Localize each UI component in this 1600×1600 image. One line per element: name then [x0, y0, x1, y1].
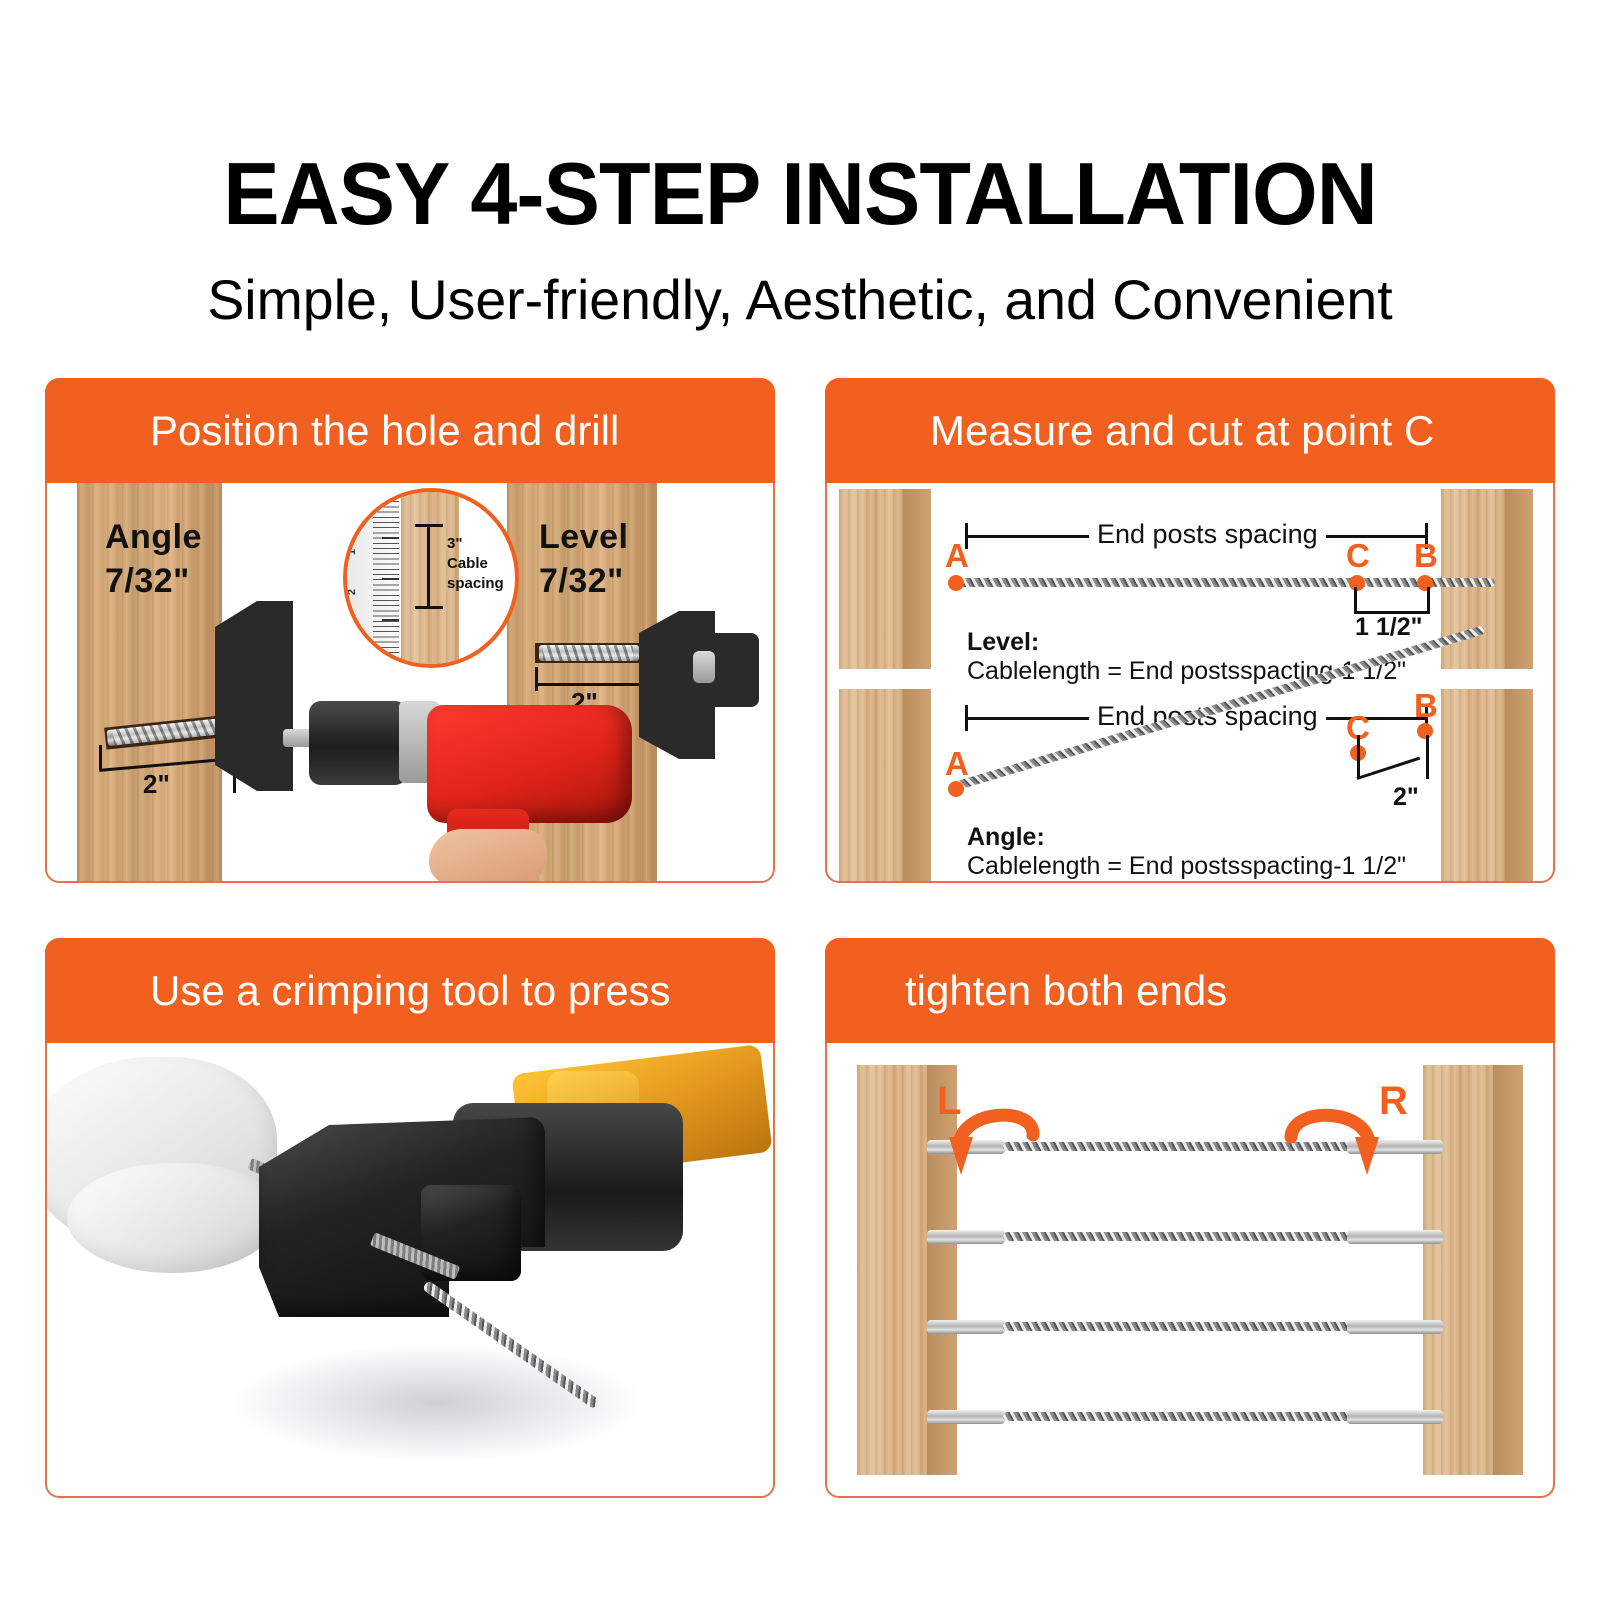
level-point-a-label: A	[945, 539, 969, 572]
angle-point-b-label: B	[1414, 689, 1438, 722]
angle-formula-body: Cablelength = End postsspacting-1 1/2"	[967, 852, 1406, 881]
infographic-page: EASY 4-STEP INSTALLATION Simple, User-fr…	[0, 0, 1600, 1600]
level-formula: Level: Cablelength = End postsspacting-1…	[967, 628, 1406, 686]
ruler-tick-4: 4	[346, 661, 358, 667]
ruler-tick-0: 0	[346, 509, 358, 515]
step-4-body: L R	[825, 1043, 1555, 1498]
spacing-cap-bottom	[415, 606, 443, 609]
hand-graphic	[429, 829, 547, 883]
cable-3-terminal-right	[1347, 1320, 1443, 1334]
angle-diagram-post-left	[839, 689, 931, 883]
right-rotation-arrow-icon	[1279, 1089, 1389, 1199]
drill-chuck	[309, 701, 407, 785]
page-title: EASY 4-STEP INSTALLATION	[32, 146, 1568, 242]
cable-2-terminal-left	[927, 1230, 1005, 1244]
step-4-panel: tighten both ends	[825, 938, 1555, 1498]
level-cable	[955, 578, 1495, 587]
gloved-hand-lower	[67, 1163, 277, 1273]
step-1-header: Position the hole and drill	[45, 378, 775, 483]
cable-3-terminal-left	[927, 1320, 1005, 1334]
angle-point-a-dot	[948, 781, 964, 797]
step-2-header-label: Measure and cut at point C	[825, 407, 1434, 455]
angle-formula: Angle: Cablelength = End postsspacting-1…	[967, 823, 1406, 881]
step-3-header: Use a crimping tool to press	[45, 938, 775, 1043]
angle-formula-title: Angle:	[967, 823, 1406, 852]
cable-spacing-value: 3"	[447, 534, 462, 553]
cable-2-terminal-right	[1347, 1230, 1443, 1244]
step-4-header-label: tighten both ends	[825, 967, 1227, 1015]
left-turn-label: L	[937, 1081, 961, 1121]
level-chuck-block	[639, 611, 715, 759]
cable-spacing-line2: spacing	[447, 574, 504, 593]
level-bit-flutes	[543, 645, 633, 661]
cable-4	[1003, 1412, 1353, 1421]
magnifier-circle: 0 1 2 3 4 3" Cable spacing	[343, 488, 519, 668]
ruler-tick-2: 2	[346, 589, 358, 595]
step-1-panel: Position the hole and drill Angle 7/32" …	[45, 378, 775, 883]
step-2-header: Measure and cut at point C	[825, 378, 1555, 483]
step-3-body	[45, 1043, 775, 1498]
spacing-bar	[427, 524, 430, 608]
level-drill-shaft	[693, 651, 715, 683]
drill-body	[427, 705, 632, 823]
cable-3	[1003, 1322, 1353, 1331]
cable-2	[1003, 1232, 1353, 1241]
angle-size-label: 7/32"	[105, 561, 190, 601]
angle-depth-label: 2"	[143, 769, 170, 800]
right-turn-label: R	[1379, 1081, 1408, 1121]
step-3-panel: Use a crimping tool to press	[45, 938, 775, 1498]
ruler-graphic	[347, 492, 401, 664]
level-diagram-post-left	[839, 489, 931, 669]
angle-chuck-block	[215, 601, 293, 791]
level-formula-title: Level:	[967, 628, 1406, 657]
level-dim-tick-left	[535, 667, 538, 691]
ruler-major-ticks	[382, 496, 399, 660]
angle-offset-label: 2"	[1393, 783, 1419, 812]
ruler-tick-1: 1	[346, 549, 358, 555]
page-subtitle: Simple, User-friendly, Aesthetic, and Co…	[8, 268, 1592, 332]
angle-title-label: Angle	[105, 517, 202, 557]
step-3-header-label: Use a crimping tool to press	[45, 967, 671, 1015]
level-title-label: Level	[539, 517, 628, 557]
step-1-body: Angle 7/32" 2" Level 7/32" 2"	[45, 483, 775, 883]
step-4-header: tighten both ends	[825, 938, 1555, 1043]
cable-4-terminal-left	[927, 1410, 1005, 1424]
left-rotation-arrow-icon	[949, 1089, 1059, 1199]
step-2-body: End posts spacing A C B 1 1/2" Level: Ca…	[825, 483, 1555, 883]
step-2-panel: Measure and cut at point C End posts spa…	[825, 378, 1555, 883]
step-1-header-label: Position the hole and drill	[45, 407, 619, 455]
cable-spacing-line1: Cable	[447, 554, 488, 573]
spacing-cap-top	[415, 524, 443, 527]
angle-point-a-label: A	[945, 747, 969, 780]
level-dim-line	[535, 683, 645, 686]
level-point-c-label: C	[1346, 539, 1370, 572]
angle-dim-tick-left	[99, 745, 102, 769]
ruler-tick-3: 3	[346, 627, 358, 633]
level-span-label: End posts spacing	[1089, 519, 1326, 550]
cable-4-terminal-right	[1347, 1410, 1443, 1424]
level-point-b-label: B	[1414, 539, 1438, 572]
angle-diagram-post-right	[1441, 689, 1533, 883]
level-size-label: 7/32"	[539, 561, 624, 601]
level-offset-brace	[1354, 587, 1430, 614]
level-point-a-dot	[948, 575, 964, 591]
